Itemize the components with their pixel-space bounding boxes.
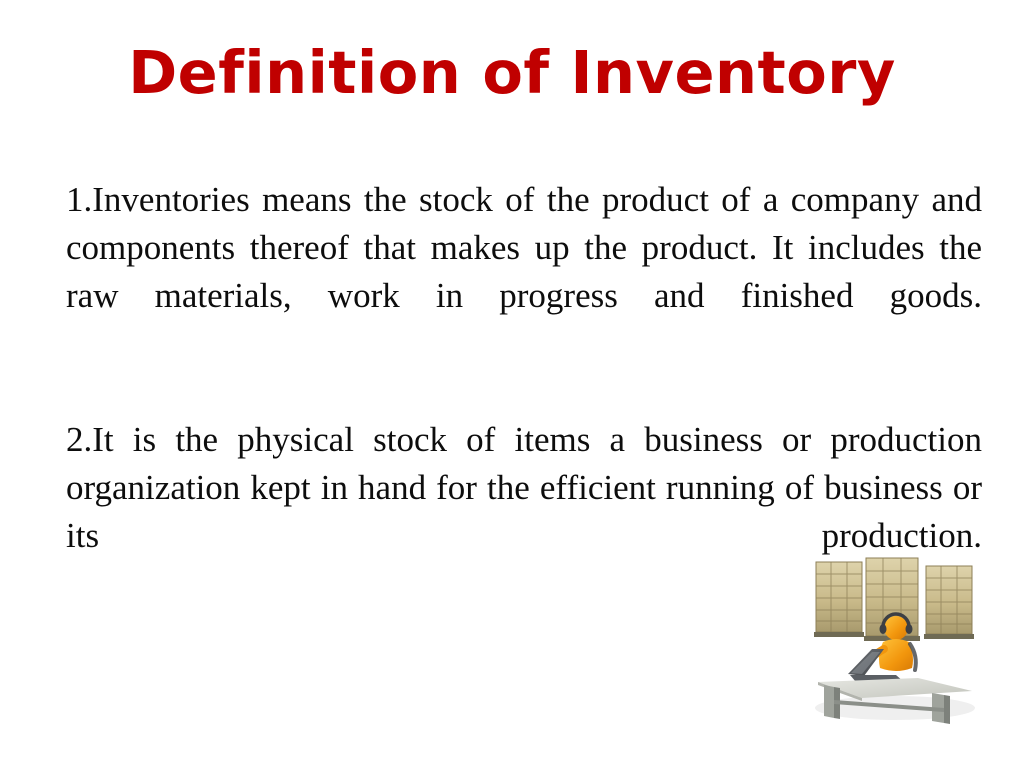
warehouse-worker-at-desk-image	[800, 548, 990, 726]
slide: Definition of Inventory 1.Inventories me…	[0, 0, 1024, 768]
page-title: Definition of Inventory	[0, 42, 1024, 104]
paragraph-1: 1.Inventories means the stock of the pro…	[66, 176, 982, 368]
illustration-container	[800, 548, 990, 726]
body-text-block: 1.Inventories means the stock of the pro…	[66, 176, 982, 608]
